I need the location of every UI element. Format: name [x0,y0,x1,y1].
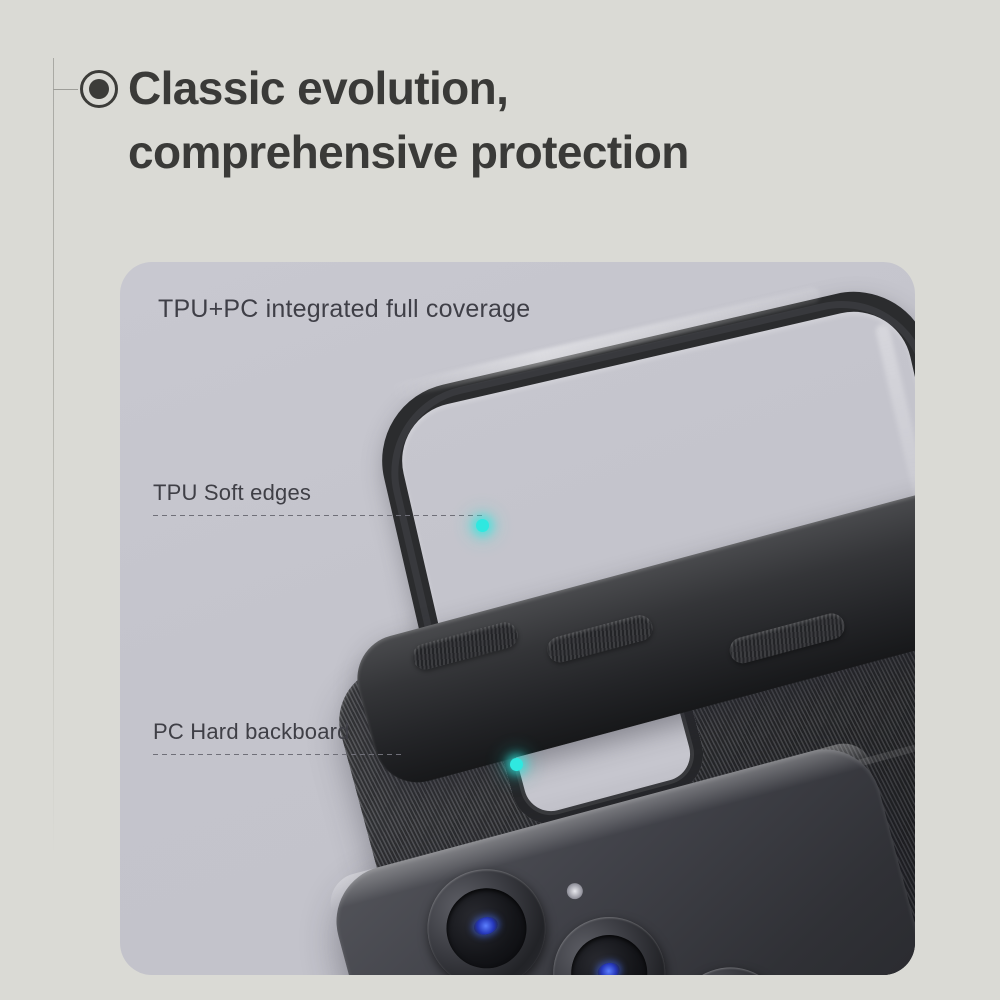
bullet-connector-line [53,89,78,90]
callout-marker-dot-icon [476,519,489,532]
page-title: Classic evolution, comprehensive protect… [128,56,968,184]
callout-leader-line [153,754,403,755]
callout-leader-line [153,515,483,516]
headline-line-1: Classic evolution, [128,62,508,114]
bullet-ring-icon [80,70,118,108]
product-card: TPU+PC integrated full coverage [120,262,915,975]
callout-tpu-soft-edges: TPU Soft edges [153,480,483,516]
camera-lens-3 [662,955,799,975]
headline-line-2: comprehensive protection [128,120,968,184]
card-title: TPU+PC integrated full coverage [158,295,530,324]
callout-pc-hard-backboard: PC Hard backboard [153,719,403,755]
camera-lens-2 [541,904,678,975]
callout-label: PC Hard backboard [153,719,403,745]
product-illustration [120,262,915,975]
callout-marker-dot-icon [510,758,523,771]
camera-flash-icon [565,881,585,901]
left-accent-rule [53,58,54,858]
product-feature-page: Classic evolution, comprehensive protect… [0,0,1000,1000]
callout-label: TPU Soft edges [153,480,483,506]
